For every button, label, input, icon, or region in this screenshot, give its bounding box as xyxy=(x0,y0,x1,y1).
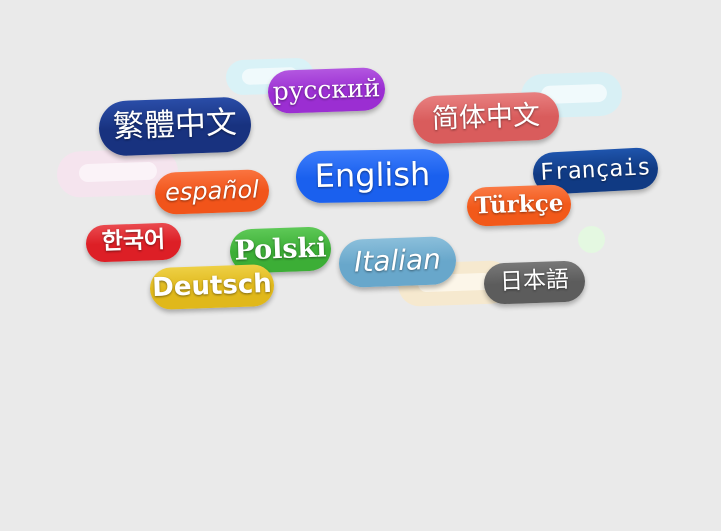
language-pill-japanese[interactable]: 日本語 xyxy=(483,260,585,304)
language-pill-label: español xyxy=(165,177,260,206)
language-pill-turkish[interactable]: Türkçe xyxy=(466,184,571,227)
language-pill-label: 한국어 xyxy=(101,229,165,256)
language-pill-label: Polski xyxy=(234,234,327,266)
language-pill-label: русский xyxy=(272,75,381,106)
language-pill-label: Türkçe xyxy=(474,191,564,219)
language-pill-label: Deutsch xyxy=(152,271,272,303)
language-pill-spanish[interactable]: español xyxy=(154,169,269,215)
language-pill-label: 简体中文 xyxy=(432,102,541,135)
ghost-pink-left-highlight xyxy=(79,162,158,183)
language-pill-canvas: русский繁體中文简体中文EnglishFrançaisespañolTür… xyxy=(0,0,721,531)
language-pill-label: Italian xyxy=(354,245,442,278)
language-pill-traditional-chinese[interactable]: 繁體中文 xyxy=(98,96,252,156)
language-pill-simplified-chinese[interactable]: 简体中文 xyxy=(412,91,560,144)
language-pill-german[interactable]: Deutsch xyxy=(149,264,274,310)
language-pill-label: English xyxy=(314,158,430,194)
language-pill-label: Français xyxy=(540,156,652,187)
ghost-green-circle xyxy=(578,226,605,253)
language-pill-italian[interactable]: Italian xyxy=(338,236,457,288)
language-pill-korean[interactable]: 한국어 xyxy=(85,222,181,262)
language-pill-english[interactable]: English xyxy=(296,149,450,204)
language-pill-label: 日本語 xyxy=(500,269,570,296)
language-pill-label: 繁體中文 xyxy=(112,108,237,145)
language-pill-russian[interactable]: русский xyxy=(267,67,385,114)
